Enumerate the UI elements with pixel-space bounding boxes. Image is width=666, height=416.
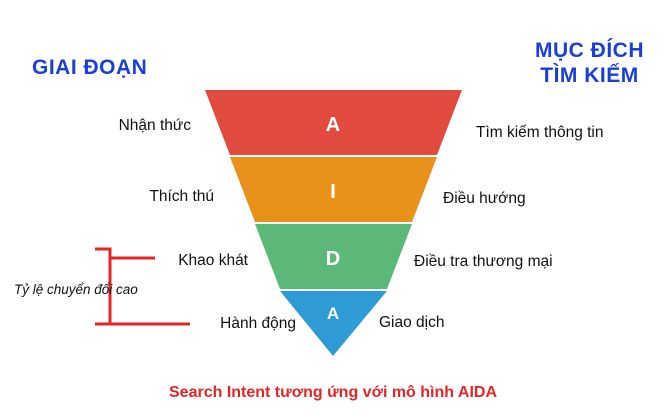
- intent-label-informational: Tìm kiếm thông tin: [476, 124, 604, 142]
- stage-label-desire: Khao khát: [178, 252, 248, 270]
- conversion-rate-note: Tỷ lệ chuyển đổi cao: [14, 282, 138, 297]
- band-letter-a1: A: [313, 114, 353, 137]
- intent-label-navigational: Điều hướng: [443, 190, 526, 208]
- band-letter-i: I: [313, 181, 353, 204]
- stage-label-awareness: Nhận thức: [119, 117, 191, 135]
- diagram-caption: Search Intent tương ứng với mô hình AIDA: [0, 384, 666, 402]
- stage-label-action: Hành động: [220, 315, 296, 333]
- intent-label-transactional: Giao dịch: [379, 314, 444, 332]
- stage-label-interest: Thích thú: [149, 188, 214, 206]
- band-letter-a2: A: [313, 304, 353, 324]
- funnel-shape: [0, 0, 666, 416]
- band-letter-d: D: [313, 248, 353, 271]
- diagram-canvas: GIAI ĐOẠN MỤC ĐÍCH TÌM KIẾM A I D A Nhận…: [0, 0, 666, 416]
- intent-label-commercial: Điều tra thương mại: [414, 253, 553, 271]
